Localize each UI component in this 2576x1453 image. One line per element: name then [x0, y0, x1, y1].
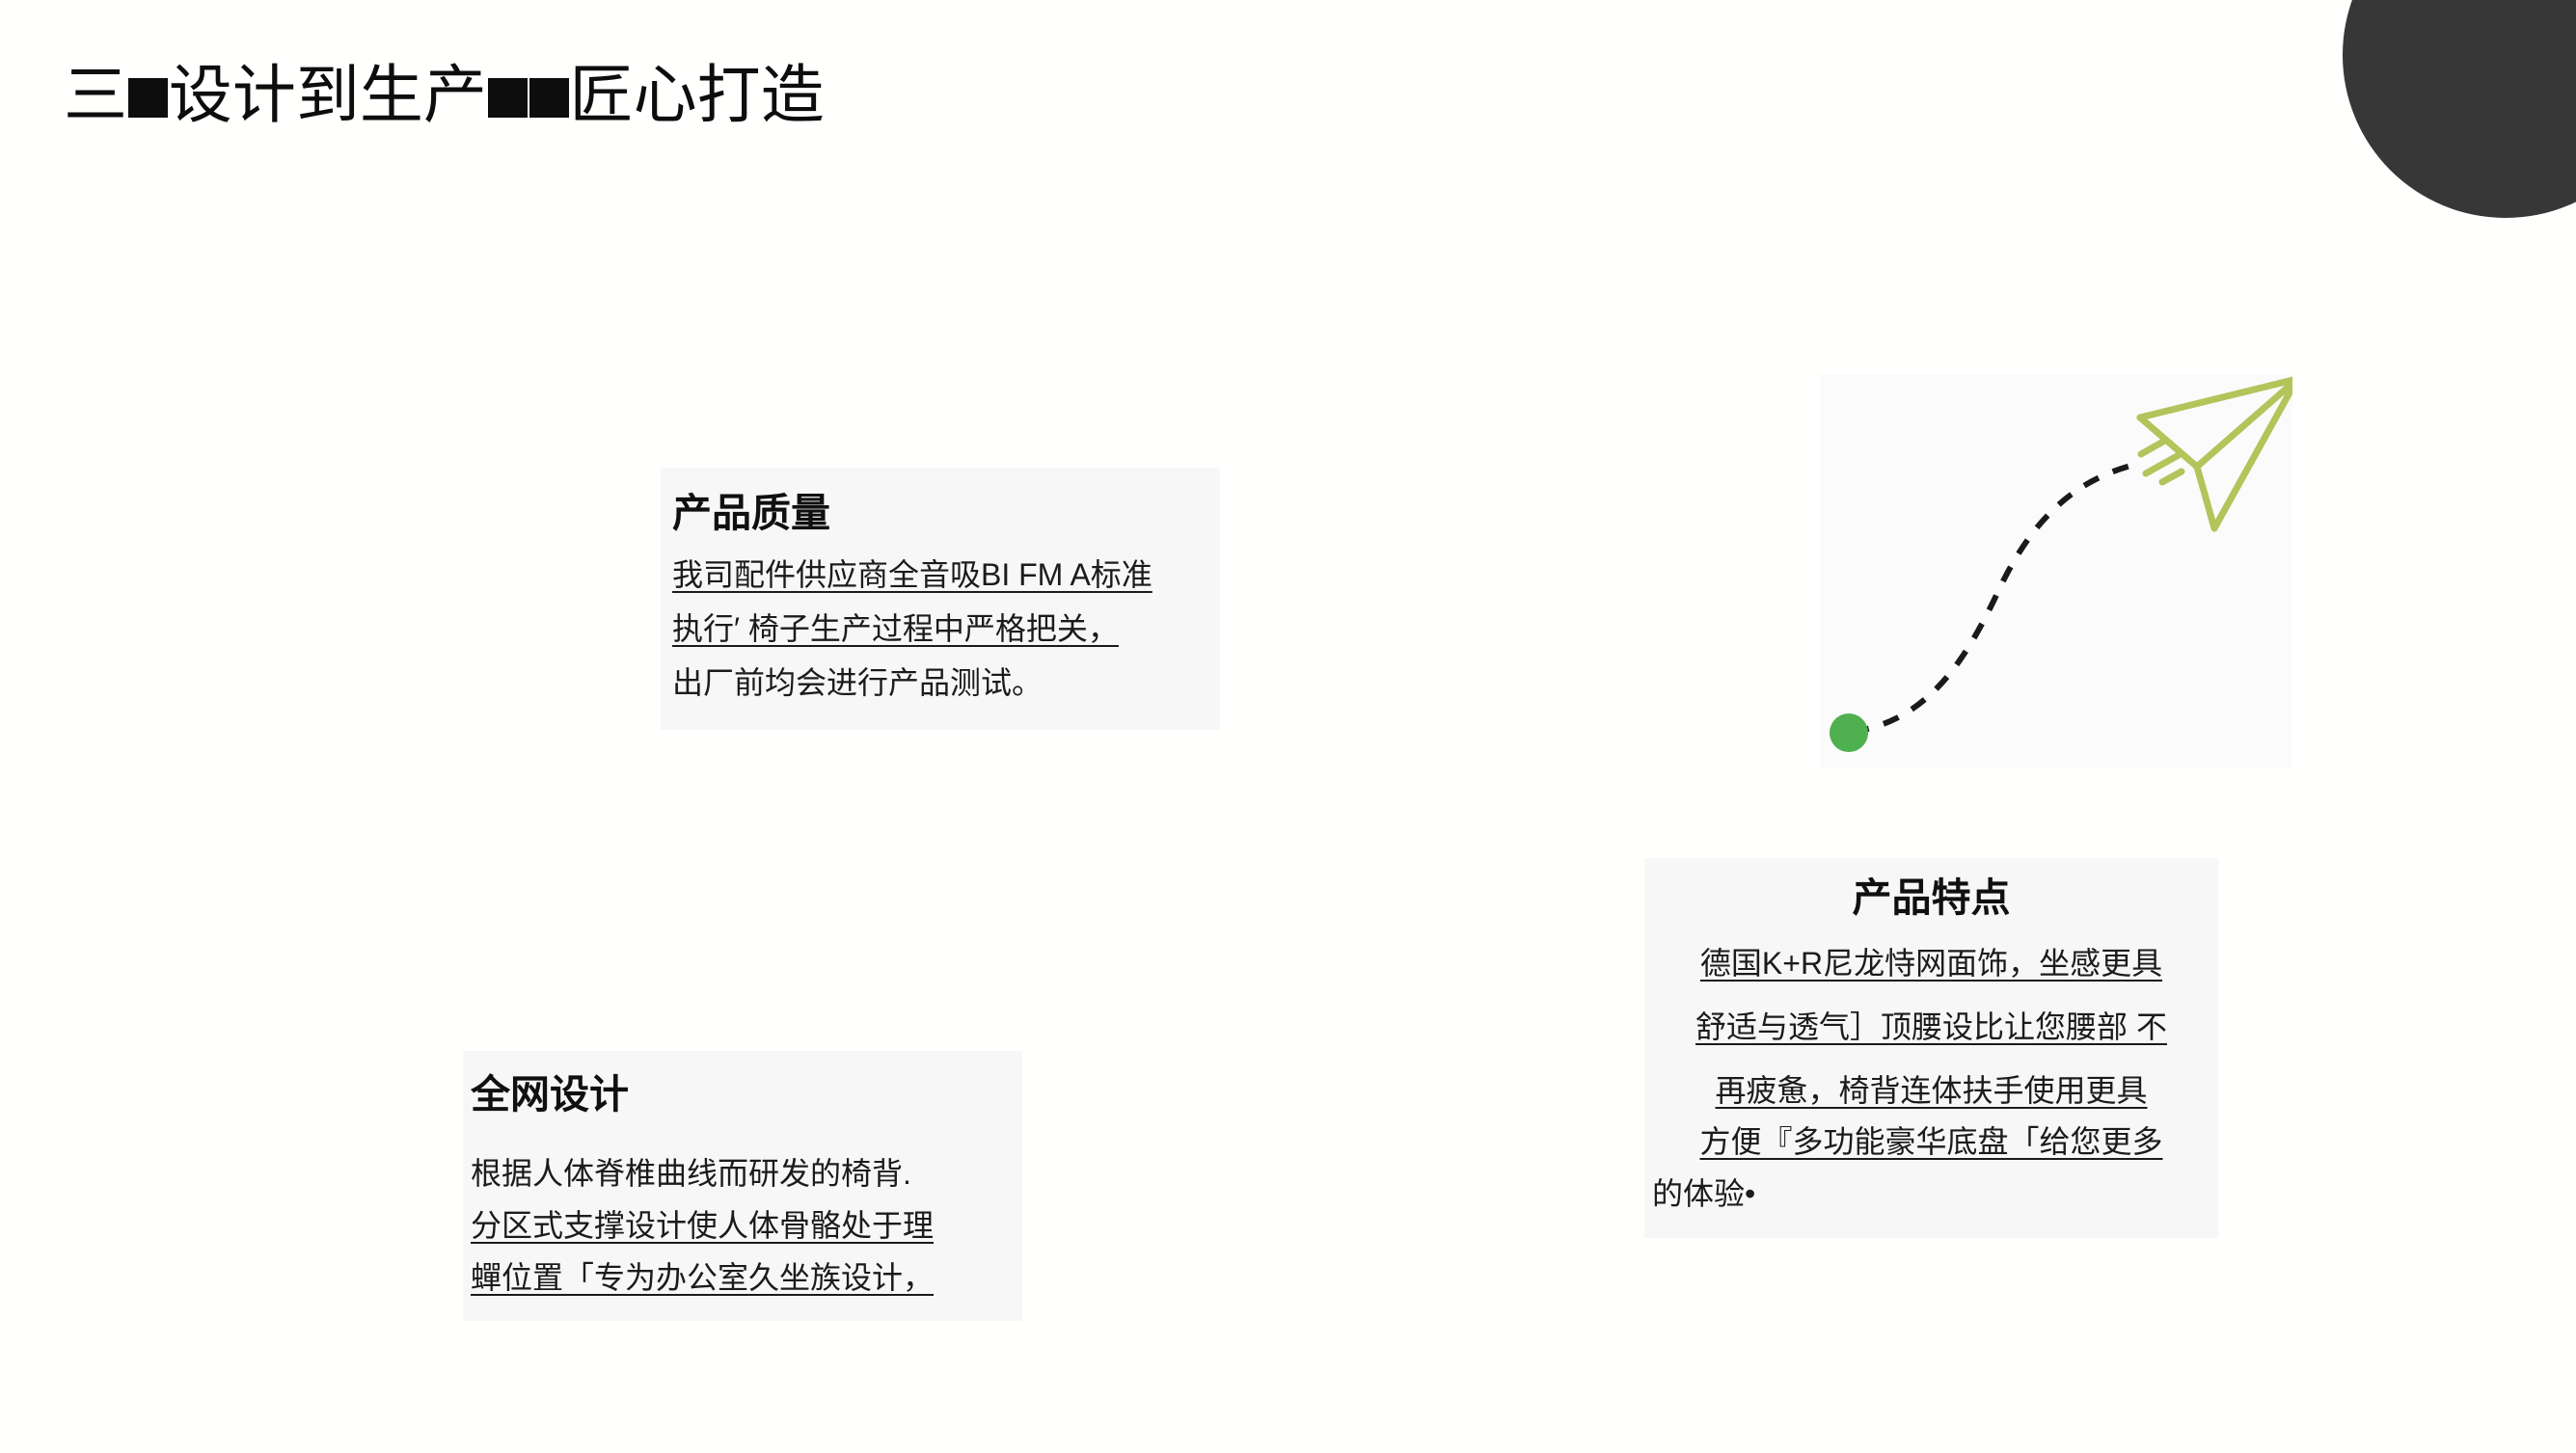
flight-path-dashed-line [1853, 464, 2138, 732]
body-line: 德国K+R尼龙恃网面饰，坐感更具 [1644, 946, 2218, 982]
body-line: 我司配件供应商全音吸BI FM A标准 [672, 557, 1220, 594]
paper-plane-icon [2140, 379, 2292, 528]
speed-line-icon [2146, 455, 2179, 473]
body-line: 分区式支撑设计使人体骨骼处于理 [471, 1208, 1022, 1245]
card-product-features: 产品特点 德国K+R尼龙恃网面饰，坐感更具 舒适与透气］顶腰设比让您腰部 不 再… [1644, 858, 2218, 1238]
card-heading-product-quality: 产品质量 [672, 491, 1220, 536]
body-line: 舒适与透气］顶腰设比让您腰部 不 [1644, 1009, 2218, 1046]
title-segment-3: 匠心打造 [570, 61, 825, 131]
title-segment-2: 设计到生产 [169, 61, 487, 131]
speed-line-icon [2141, 442, 2163, 454]
card-heading-product-features: 产品特点 [1644, 875, 2218, 921]
card-body-product-quality: 我司配件供应商全音吸BI FM A标准 执行′ 椅子生产过程中严格把关， 出厂前… [672, 557, 1220, 701]
body-line: 的体验• [1644, 1176, 2218, 1213]
card-body-product-features: 德国K+R尼龙恃网面饰，坐感更具 舒适与透气］顶腰设比让您腰部 不 再疲惫，椅背… [1644, 946, 2218, 1213]
body-line: 执行′ 椅子生产过程中严格把关， [672, 611, 1220, 648]
tofu-box-icon [488, 78, 528, 118]
body-line: 方便『多功能豪华底盘「给您更多 [1644, 1124, 2218, 1161]
paper-plane-illustration [1820, 374, 2292, 768]
body-line: 根据人体脊椎曲线而研发的椅背. [471, 1156, 1022, 1193]
slide-canvas: 三设计到生产匠心打造 产品质量 我司配件供应商全音吸BI FM A标准 执行′ … [0, 0, 2576, 1453]
title-segment-1: 三 [64, 61, 127, 131]
speed-line-icon [2162, 471, 2182, 482]
tofu-box-icon [529, 78, 569, 118]
body-line: 再疲惫，椅背连体扶手使用更具 [1644, 1073, 2218, 1110]
body-line: 出厂前均会进行产品测试。 [672, 665, 1220, 702]
corner-circle-decoration [2343, 0, 2576, 218]
tofu-box-icon [128, 78, 168, 118]
slide-title: 三设计到生产匠心打造 [64, 58, 825, 134]
card-heading-network-design: 全网设计 [471, 1072, 1022, 1117]
card-product-quality: 产品质量 我司配件供应商全音吸BI FM A标准 执行′ 椅子生产过程中严格把关… [661, 468, 1220, 730]
paper-plane-svg [1820, 374, 2292, 768]
flight-start-dot-icon [1830, 713, 1868, 752]
card-body-network-design: 根据人体脊椎曲线而研发的椅背. 分区式支撑设计使人体骨骼处于理 蟬位置「专为办公… [471, 1156, 1022, 1296]
card-network-design: 全网设计 根据人体脊椎曲线而研发的椅背. 分区式支撑设计使人体骨骼处于理 蟬位置… [463, 1051, 1022, 1321]
body-line: 蟬位置「专为办公室久坐族设计， [471, 1260, 1022, 1297]
